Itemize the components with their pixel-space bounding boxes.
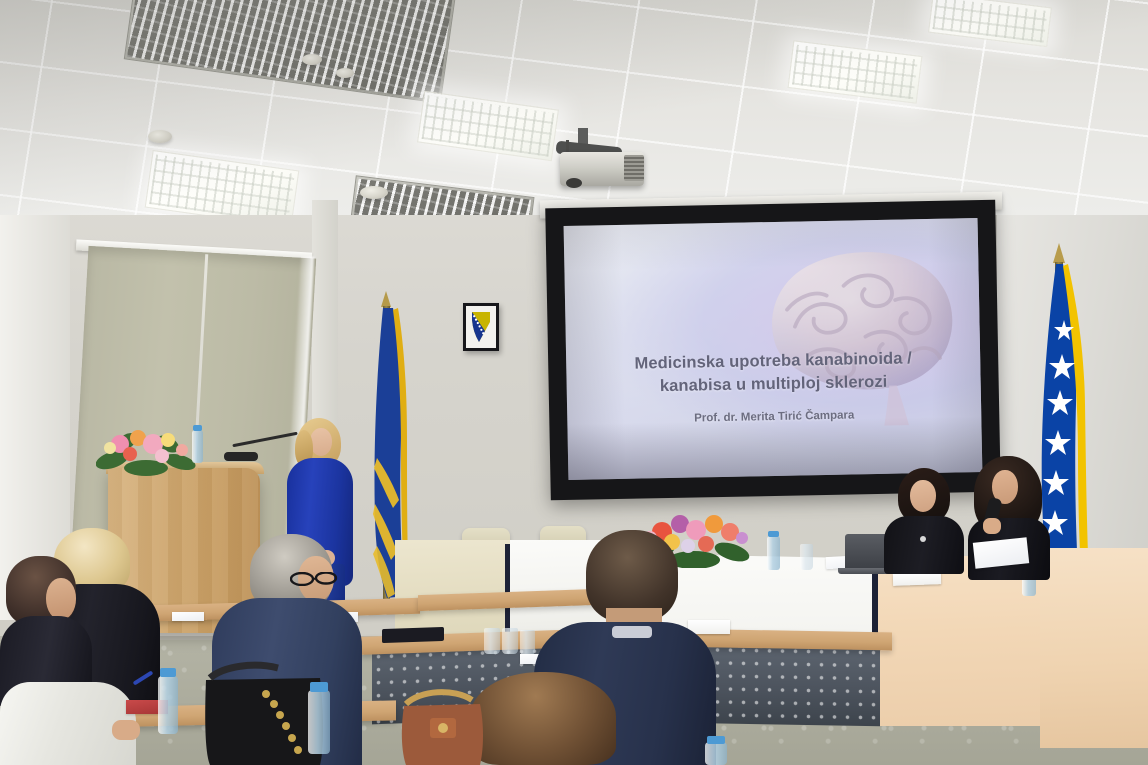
drinking-glass <box>502 628 518 654</box>
bouquet-podium <box>96 418 196 476</box>
head-table-cloth-peach-right <box>1040 548 1148 748</box>
black-jacket <box>884 516 964 574</box>
water-bottle <box>767 536 780 570</box>
bottle-cap <box>707 736 725 744</box>
conference-photo: Medicinska upotreba kanabinoida / kanabi… <box>0 0 1148 765</box>
screen-vignette <box>564 218 983 480</box>
flag-finial-icon <box>1053 243 1065 263</box>
notepad <box>172 612 204 621</box>
person-audience-woman-dark <box>0 556 118 765</box>
drinking-glass <box>484 628 500 654</box>
slide-surface: Medicinska upotreba kanabinoida / kanabi… <box>564 218 983 480</box>
tablet-device[interactable] <box>382 627 444 643</box>
face <box>310 428 332 456</box>
framed-coat-of-arms <box>463 303 499 351</box>
shirt-collar <box>612 626 652 638</box>
hand <box>983 518 1001 534</box>
handbag-brown <box>398 688 488 765</box>
bottle-cap <box>160 668 176 677</box>
flag-finial-icon <box>381 291 391 307</box>
person-panelist-laptop <box>884 468 964 572</box>
water-bottle <box>308 690 330 754</box>
projector-vent <box>624 155 644 181</box>
glasses-icon <box>290 572 338 586</box>
podium-microphone-base <box>224 452 258 461</box>
bottle-cap <box>310 682 328 692</box>
bottle-cap <box>768 531 779 537</box>
name-placard <box>893 572 941 586</box>
projector-lens-icon <box>566 178 582 188</box>
water-bottle <box>192 430 203 463</box>
projection-screen: Medicinska upotreba kanabinoida / kanabi… <box>545 200 1001 501</box>
person-panelist-microphone <box>966 456 1052 578</box>
person-audience-woman-front <box>470 672 616 765</box>
hair-brown <box>470 672 616 765</box>
water-bottle <box>158 676 178 734</box>
water-bottle <box>705 742 727 765</box>
hand-with-pen <box>112 720 140 740</box>
drinking-glass <box>800 544 813 570</box>
face <box>46 578 76 620</box>
drinking-glass <box>520 630 535 655</box>
face <box>910 480 936 512</box>
lapel-pin-icon <box>920 536 926 542</box>
bottle-cap <box>193 425 202 431</box>
coat-of-arms-icon <box>469 309 493 345</box>
